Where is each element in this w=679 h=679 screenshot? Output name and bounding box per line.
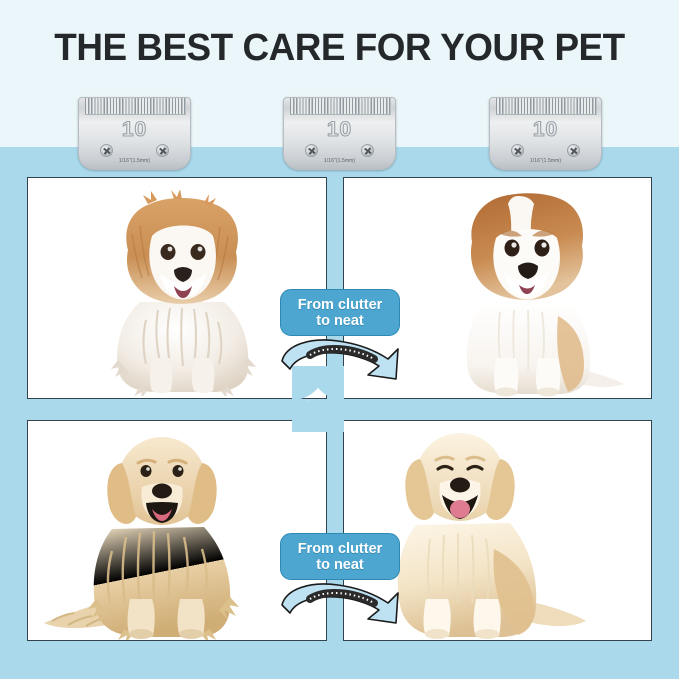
page-title: THE BEST CARE FOR YOUR PET: [10, 26, 669, 70]
badge-from-clutter-to-neat: From clutter to neat: [280, 289, 400, 336]
blade-size-number: 10: [79, 118, 190, 142]
blade-body: 10 1/16"(1.5mm): [283, 97, 396, 170]
clipper-blade-right: 10 1/16"(1.5mm): [489, 88, 602, 170]
badge-line-2: to neat: [316, 313, 364, 329]
dog-shaggy-terrier-image: [88, 190, 274, 396]
dog-shaggy-golden-retriever-image: [38, 425, 272, 640]
curved-arrow-icon: [276, 335, 404, 399]
badge-from-clutter-to-neat: From clutter to neat: [280, 533, 400, 580]
blade-screw-right-icon: [567, 144, 580, 157]
curved-arrow-icon: [276, 579, 404, 643]
clipper-blade-center: 10 1/16"(1.5mm): [283, 88, 396, 170]
badge-line-1: From clutter: [298, 297, 383, 313]
transition-badge-top: From clutter to neat: [280, 289, 400, 399]
blade-teeth-icon: [496, 98, 597, 115]
blade-size-label: 1/16"(1.5mm): [490, 158, 601, 164]
blade-size-number: 10: [490, 118, 601, 142]
blade-size-label: 1/16"(1.5mm): [79, 158, 190, 164]
blade-body: 10 1/16"(1.5mm): [78, 97, 191, 170]
blade-size-label: 1/16"(1.5mm): [284, 158, 395, 164]
transition-badge-bottom: From clutter to neat: [280, 533, 400, 643]
blade-screw-right-icon: [156, 144, 169, 157]
clipper-blade-left: 10 1/16"(1.5mm): [78, 88, 191, 170]
clipper-blade-row: 10 1/16"(1.5mm) 10 1/16"(1.5mm) 10 1/1: [0, 88, 679, 172]
badge-label: From clutter to neat: [298, 541, 383, 573]
blade-screw-left-icon: [511, 144, 524, 157]
badge-line-2: to neat: [316, 557, 364, 573]
blade-screw-right-icon: [361, 144, 374, 157]
badge-label: From clutter to neat: [298, 297, 383, 329]
pet-grooming-poster: THE BEST CARE FOR YOUR PET 10 1/16"(1.5m…: [0, 0, 679, 679]
dog-groomed-terrier-image: [426, 186, 626, 398]
blade-screw-left-icon: [305, 144, 318, 157]
blade-teeth-icon: [85, 98, 186, 115]
blade-screw-left-icon: [100, 144, 113, 157]
blade-size-number: 10: [284, 118, 395, 142]
blade-body: 10 1/16"(1.5mm): [489, 97, 602, 170]
badge-line-1: From clutter: [298, 541, 383, 557]
blade-teeth-icon: [290, 98, 391, 115]
